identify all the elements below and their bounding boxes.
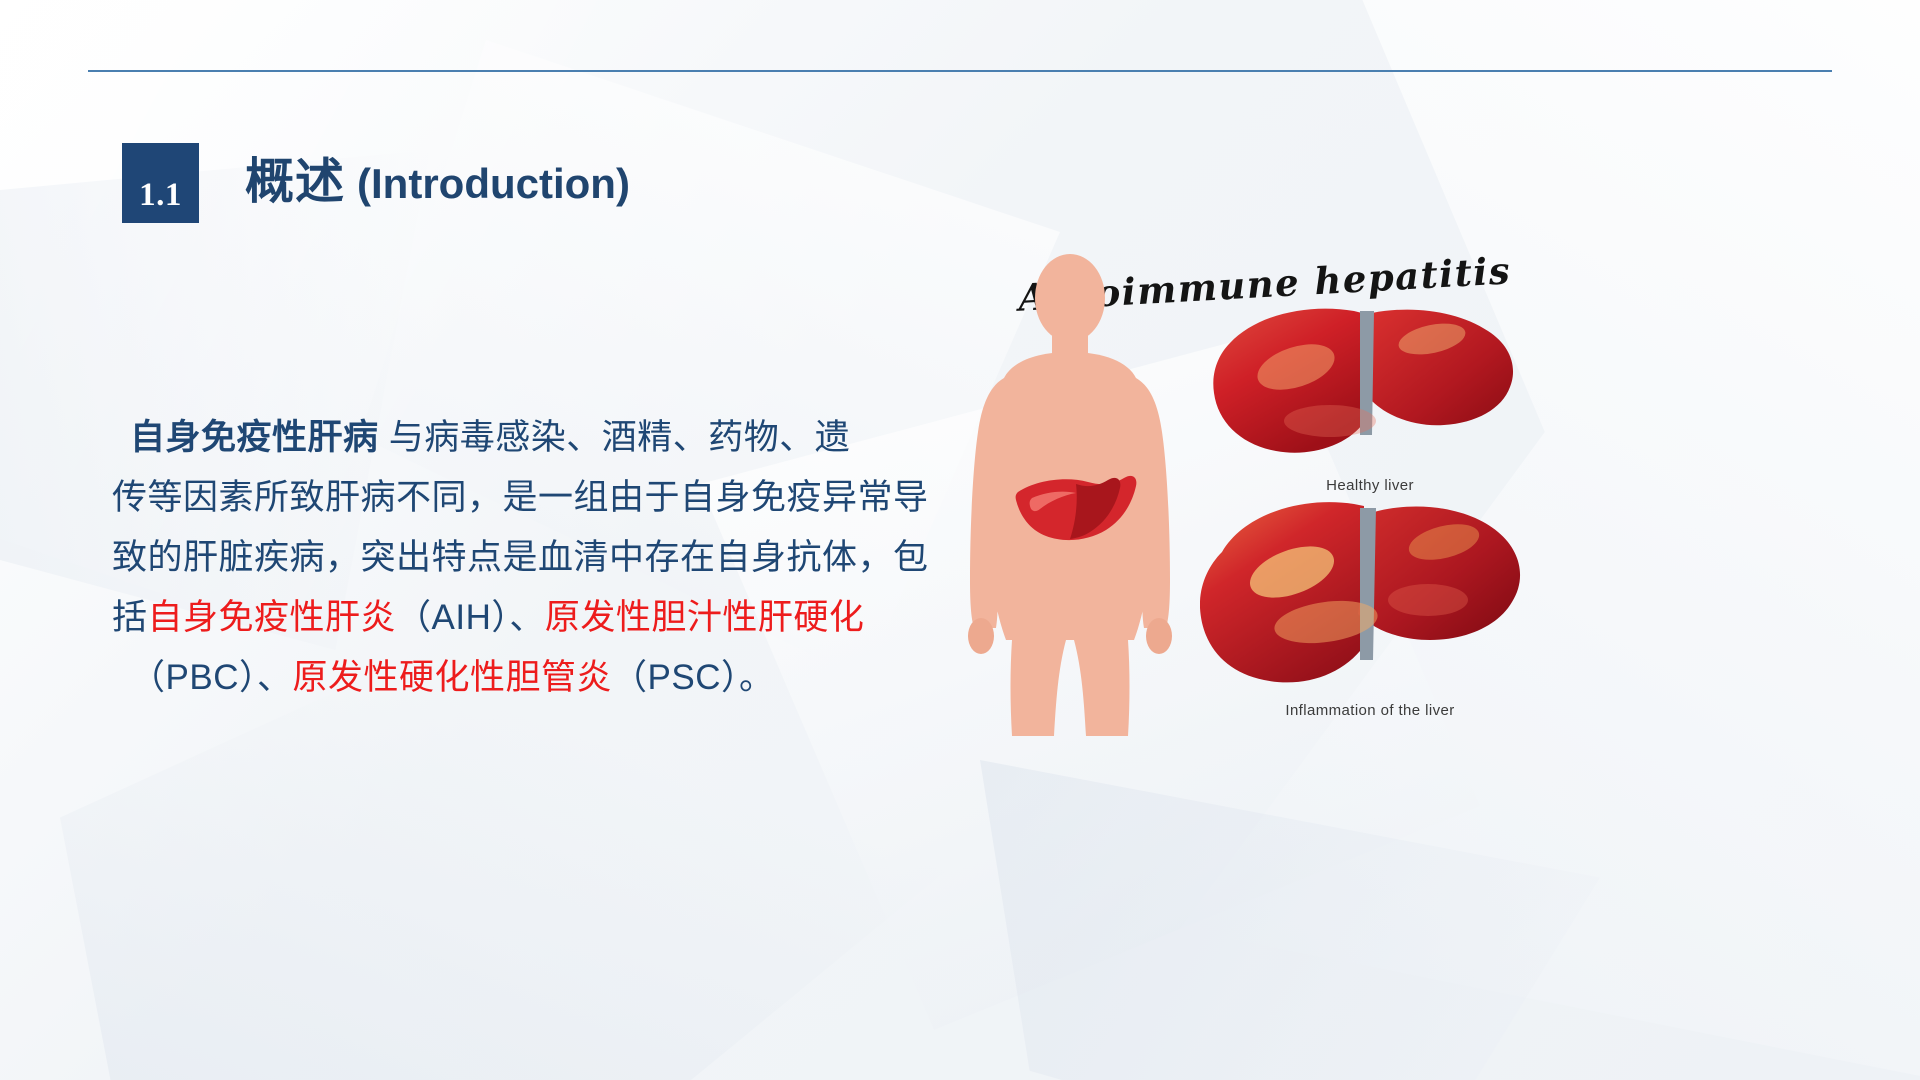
page-title: 概述(Introduction) [245, 158, 630, 209]
body-line: 致的肝脏疾病，突出特点是血清中存在自身抗体，包 [112, 528, 902, 588]
body-segment: 原发性硬化性胆管炎 [292, 658, 612, 697]
body-segment: 括 [112, 598, 148, 637]
background-polygon [980, 760, 1600, 1080]
body-paragraph: 自身免疫性肝病 与病毒感染、酒精、药物、遗传等因素所致肝病不同，是一组由于自身免… [112, 408, 902, 708]
body-line: 括自身免疫性肝炎（AIH）、原发性胆汁性肝硬化 [112, 588, 902, 648]
inflamed-liver-caption: Inflammation of the liver [1200, 702, 1540, 719]
slide-canvas: 1.1 概述(Introduction) 自身免疫性肝病 与病毒感染、酒精、药物… [0, 0, 1920, 1080]
section-number-badge: 1.1 [122, 143, 199, 223]
body-segment: 自身免疫性肝炎 [148, 598, 397, 637]
body-segment: 、 [509, 598, 545, 637]
inflamed-liver-illustration: Inflammation of the liver [1200, 490, 1540, 740]
healthy-liver-graphic [1200, 295, 1540, 480]
body-segment: （PBC） [130, 658, 257, 697]
illustration-group: Autoimmune hepatitis [900, 240, 1540, 750]
body-segment: （PSC）。 [612, 658, 774, 697]
page-title-zh: 概述 [245, 155, 345, 209]
body-segment: 与病毒感染、酒精、药物、遗 [379, 418, 851, 457]
section-number-label: 1.1 [139, 177, 182, 214]
header-divider [88, 70, 1832, 72]
body-segment: 原发性胆汁性肝硬化 [545, 598, 865, 637]
inflamed-liver-graphic [1200, 490, 1540, 690]
slide-title-row: 1.1 概述(Introduction) [122, 143, 630, 223]
page-title-en: (Introduction) [357, 160, 630, 207]
body-line: 传等因素所致肝病不同，是一组由于自身免疫异常导 [112, 468, 902, 528]
healthy-liver-illustration: Healthy liver [1200, 295, 1540, 510]
body-segment: 致的肝脏疾病，突出特点是血清中存在自身抗体，包 [112, 538, 929, 577]
body-segment: 、 [257, 658, 293, 697]
body-line: （PBC）、原发性硬化性胆管炎（PSC）。 [112, 648, 902, 708]
body-line: 自身免疫性肝病 与病毒感染、酒精、药物、遗 [112, 408, 902, 468]
body-segment: （AIH） [396, 598, 509, 637]
human-body-figure [900, 252, 1240, 742]
body-segment: 传等因素所致肝病不同，是一组由于自身免疫异常导 [112, 478, 929, 517]
body-segment: 自身免疫性肝病 [130, 418, 379, 457]
